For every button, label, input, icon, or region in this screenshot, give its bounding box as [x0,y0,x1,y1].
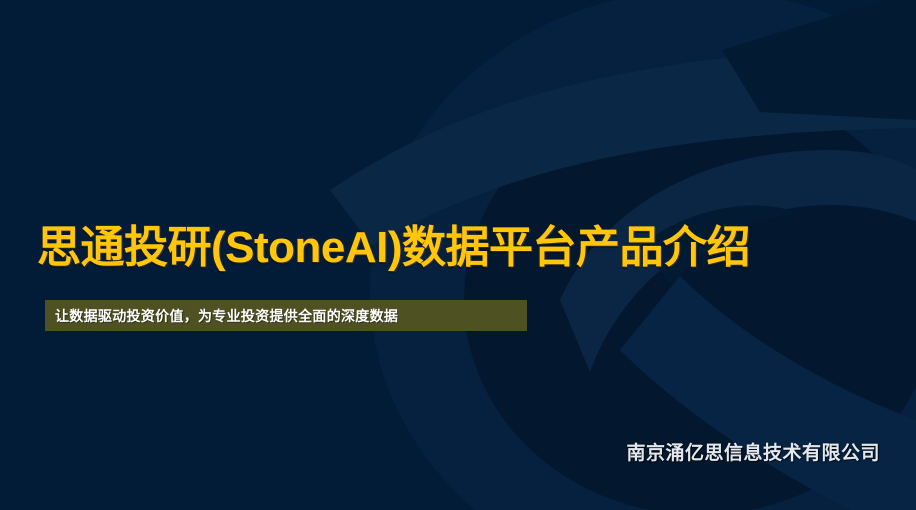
subtitle-band: 让数据驱动投资价值，为专业投资提供全面的深度数据 [45,300,527,331]
subtitle-text: 让数据驱动投资价值，为专业投资提供全面的深度数据 [55,306,398,326]
title-slide: 思通投研(StoneAI)数据平台产品介绍 让数据驱动投资价值，为专业投资提供全… [0,0,916,510]
watermark-top-wedge [722,0,916,120]
page-title: 思通投研(StoneAI)数据平台产品介绍 [37,222,750,274]
watermark-upper-sweep [330,46,916,246]
watermark-lower-tail [620,276,916,510]
company-name: 南京涌亿思信息技术有限公司 [626,438,880,465]
